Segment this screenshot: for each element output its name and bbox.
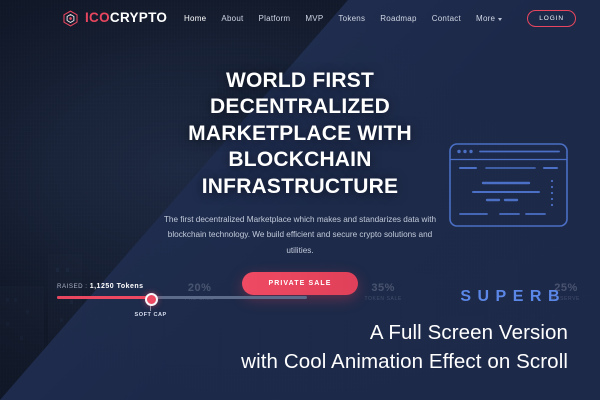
login-button[interactable]: LOGIN [527, 10, 576, 27]
main-navigation: Home About Platform MVP Tokens Roadmap C… [184, 10, 576, 27]
nav-item-home[interactable]: Home [184, 14, 206, 23]
brand-name-primary: ICO [85, 10, 110, 25]
nav-item-platform[interactable]: Platform [259, 14, 291, 23]
nav-item-more[interactable]: More [476, 14, 502, 23]
progress-slider-knob[interactable] [145, 293, 158, 306]
promo-kicker: SUPERB [241, 288, 566, 306]
nav-item-tokens[interactable]: Tokens [338, 14, 365, 23]
brand-name-secondary: CRYPTO [110, 10, 167, 25]
chevron-down-icon [498, 18, 502, 21]
nav-item-about[interactable]: About [221, 14, 243, 23]
soft-cap-label: SOFT CAP [135, 312, 167, 318]
brand-wordmark: ICOCRYPTO [85, 11, 167, 25]
page-title: WORLD FIRST DECENTRALIZED MARKETPLACE WI… [135, 68, 465, 200]
nav-item-mvp[interactable]: MVP [305, 14, 323, 23]
nav-item-roadmap[interactable]: Roadmap [380, 14, 416, 23]
promo-line-2: with Cool Animation Effect on Scroll [241, 347, 568, 376]
promo-block: SUPERB A Full Screen Version with Cool A… [241, 288, 568, 376]
nav-item-contact[interactable]: Contact [432, 14, 461, 23]
raised-prefix: RAISED : [57, 283, 87, 290]
hero-description: The first decentralized Marketplace whic… [155, 212, 445, 258]
site-header: ICOCRYPTO Home About Platform MVP Tokens… [0, 0, 600, 36]
hexagon-logo-icon [62, 10, 79, 27]
promo-line-1: A Full Screen Version [241, 318, 568, 347]
browser-window-wireframe-icon [449, 143, 568, 227]
ico-crypto-landing-screenshot: WORLD FIRST DECENTRALIZED MARKETPLACE WI… [0, 0, 600, 400]
progress-slider-fill [57, 296, 150, 299]
nav-item-more-label: More [476, 14, 495, 23]
brand-logo[interactable]: ICOCRYPTO [62, 10, 167, 27]
raised-amount: 1,1250 Tokens [90, 283, 144, 290]
